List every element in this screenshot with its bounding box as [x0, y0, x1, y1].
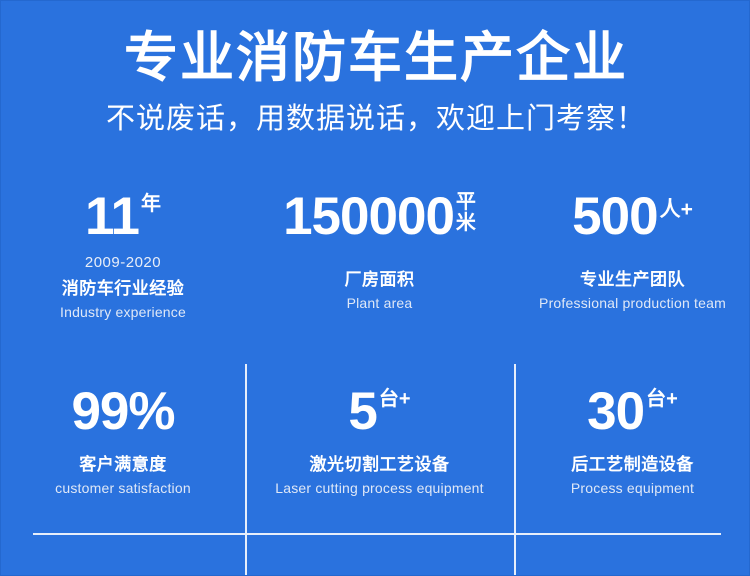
- stat-subvalue: 2009-2020: [85, 254, 161, 272]
- grid-divider-vertical-right: [514, 364, 516, 576]
- banner-header: 专业消防车生产企业 不说废话，用数据说话，欢迎上门考察！: [1, 27, 750, 139]
- stat-number-line: 150000 平 米: [283, 189, 476, 247]
- stats-grid: 11 年 2009-2020 消防车行业经验 Industry experien…: [1, 179, 750, 564]
- stat-label-cn: 厂房面积: [345, 269, 415, 291]
- stat-cell-industry-experience: 11 年 2009-2020 消防车行业经验 Industry experien…: [1, 179, 245, 356]
- stat-number: 5: [348, 384, 376, 440]
- stat-cell-process-equipment: 30 台+ 后工艺制造设备 Process equipment: [514, 356, 750, 556]
- stat-label-en: Process equipment: [571, 479, 694, 497]
- stat-unit-top: 平: [456, 192, 476, 213]
- stat-label-en: Professional production team: [539, 294, 726, 312]
- stat-cell-laser-cutting-equipment: 5 台+ 激光切割工艺设备 Laser cutting process equi…: [245, 356, 514, 556]
- stat-number: 11: [85, 189, 139, 245]
- stat-unit: 台+: [379, 384, 411, 410]
- stat-label-en: Laser cutting process equipment: [275, 479, 484, 497]
- promo-banner: 专业消防车生产企业 不说废话，用数据说话，欢迎上门考察！ 11 年 2009-2…: [0, 0, 750, 576]
- stat-label-cn: 后工艺制造设备: [571, 454, 694, 476]
- stat-label-en: customer satisfaction: [55, 479, 191, 497]
- stat-label-en: Plant area: [347, 294, 413, 312]
- page-title: 专业消防车生产企业: [1, 27, 750, 89]
- stat-number-line: 500 人+: [572, 189, 693, 247]
- stat-unit-bottom: 米: [456, 213, 476, 234]
- stat-unit: 年: [141, 189, 161, 215]
- stat-number: 150000: [283, 189, 454, 245]
- stats-section: 11 年 2009-2020 消防车行业经验 Industry experien…: [1, 179, 750, 564]
- page-subtitle: 不说废话，用数据说话，欢迎上门考察！: [1, 99, 750, 139]
- grid-divider-vertical-left: [245, 364, 247, 576]
- stat-label-cn: 消防车行业经验: [62, 278, 185, 300]
- grid-divider-horizontal: [33, 533, 721, 535]
- stat-label-cn: 专业生产团队: [580, 269, 685, 291]
- stat-number: 30: [587, 384, 644, 440]
- stat-unit: 人+: [660, 189, 693, 221]
- stat-unit: 台+: [646, 384, 678, 410]
- stat-number-line: 99%: [71, 384, 174, 442]
- stat-number-line: 5 台+: [348, 384, 410, 442]
- stat-cell-customer-satisfaction: 99% 客户满意度 customer satisfaction: [1, 356, 245, 556]
- stat-number: 500: [572, 189, 657, 245]
- stat-unit: 平 米: [456, 189, 476, 234]
- stat-cell-production-team: 500 人+ 专业生产团队 Professional production te…: [514, 179, 750, 356]
- stat-label-cn: 客户满意度: [79, 454, 167, 476]
- stat-label-cn: 激光切割工艺设备: [310, 454, 450, 476]
- stat-label-en: Industry experience: [60, 303, 186, 321]
- stat-number-line: 11 年: [85, 189, 161, 247]
- stat-number-line: 30 台+: [587, 384, 678, 442]
- stat-cell-plant-area: 150000 平 米 厂房面积 Plant area: [245, 179, 514, 356]
- stat-number: 99%: [71, 384, 174, 440]
